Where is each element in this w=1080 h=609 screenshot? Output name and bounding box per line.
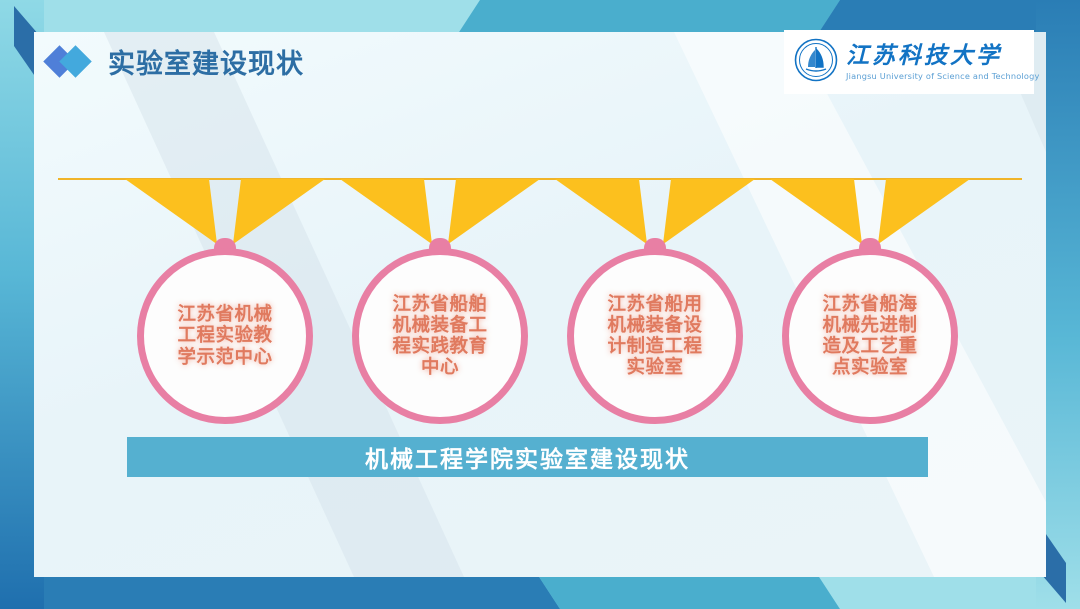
medal-2: 江苏省船舶机械装备工程实践教育中心 — [352, 248, 528, 424]
medal-4: 江苏省船海机械先进制造及工艺重点实验室 — [782, 248, 958, 424]
university-seal-icon — [794, 38, 838, 86]
medal-disc: 江苏省船用机械装备设计制造工程实验室 — [567, 248, 743, 424]
caption-bar: 机械工程学院实验室建设现状 — [127, 437, 928, 477]
medal-label: 江苏省船海机械先进制造及工艺重点实验室 — [818, 294, 922, 378]
university-name-en: Jiangsu University of Science and Techno… — [846, 72, 1040, 80]
university-logo: 江苏科技大学 Jiangsu University of Science and… — [784, 30, 1034, 94]
university-name-cn: 江苏科技大学 — [846, 44, 1040, 67]
slide-header: 实验室建设现状 — [48, 42, 304, 81]
diamond-pair-icon — [48, 45, 94, 79]
medal-label: 江苏省船舶机械装备工程实践教育中心 — [388, 294, 492, 378]
medal-3: 江苏省船用机械装备设计制造工程实验室 — [567, 248, 743, 424]
medal-1: 江苏省机械工程实验教学示范中心 — [137, 248, 313, 424]
medal-label: 江苏省机械工程实验教学示范中心 — [173, 304, 277, 367]
page-title: 实验室建设现状 — [108, 42, 304, 81]
medal-label: 江苏省船用机械装备设计制造工程实验室 — [603, 294, 707, 378]
university-logo-text: 江苏科技大学 Jiangsu University of Science and… — [846, 44, 1040, 80]
medal-disc: 江苏省机械工程实验教学示范中心 — [137, 248, 313, 424]
slide: 实验室建设现状 江苏科技大学 Jiangsu University of Sci… — [0, 0, 1080, 609]
medal-disc: 江苏省船舶机械装备工程实践教育中心 — [352, 248, 528, 424]
caption-text: 机械工程学院实验室建设现状 — [365, 440, 690, 474]
medal-disc: 江苏省船海机械先进制造及工艺重点实验室 — [782, 248, 958, 424]
